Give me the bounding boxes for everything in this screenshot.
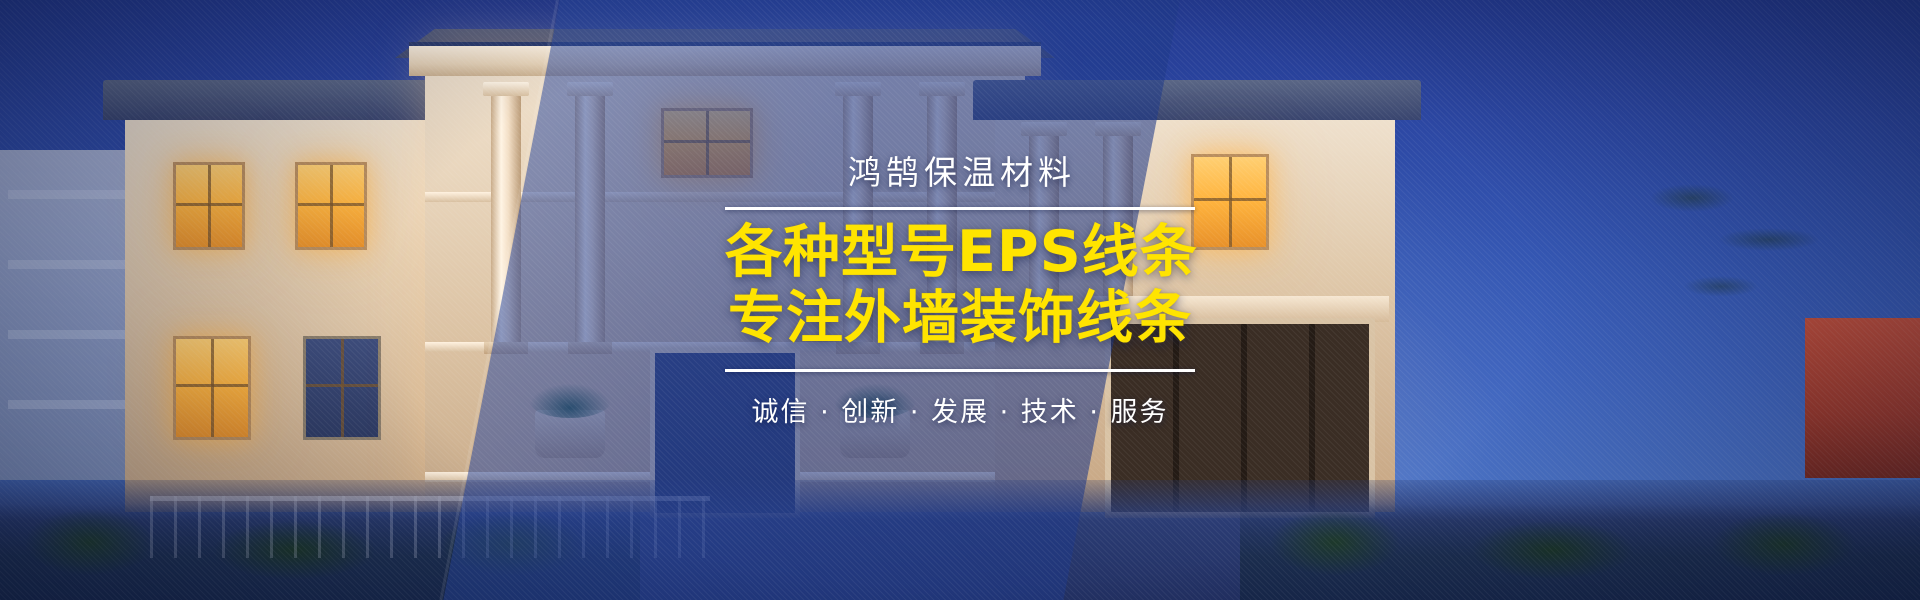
headline-line-2: 专注外墙装饰线条 [725, 288, 1195, 350]
banner-copy: 鸿鹄保温材料 各种型号EPS线条 专注外墙装饰线条 诚信 · 创新 · 发展 ·… [0, 0, 1920, 600]
headline-line-1: 各种型号EPS线条 [725, 222, 1195, 284]
divider-top [725, 207, 1195, 210]
brand-name: 鸿鹄保温材料 [725, 155, 1195, 191]
slogan-text: 诚信 · 创新 · 发展 · 技术 · 服务 [725, 390, 1195, 429]
divider-bottom [725, 369, 1195, 372]
promotional-banner: 鸿鹄保温材料 各种型号EPS线条 专注外墙装饰线条 诚信 · 创新 · 发展 ·… [0, 0, 1920, 600]
